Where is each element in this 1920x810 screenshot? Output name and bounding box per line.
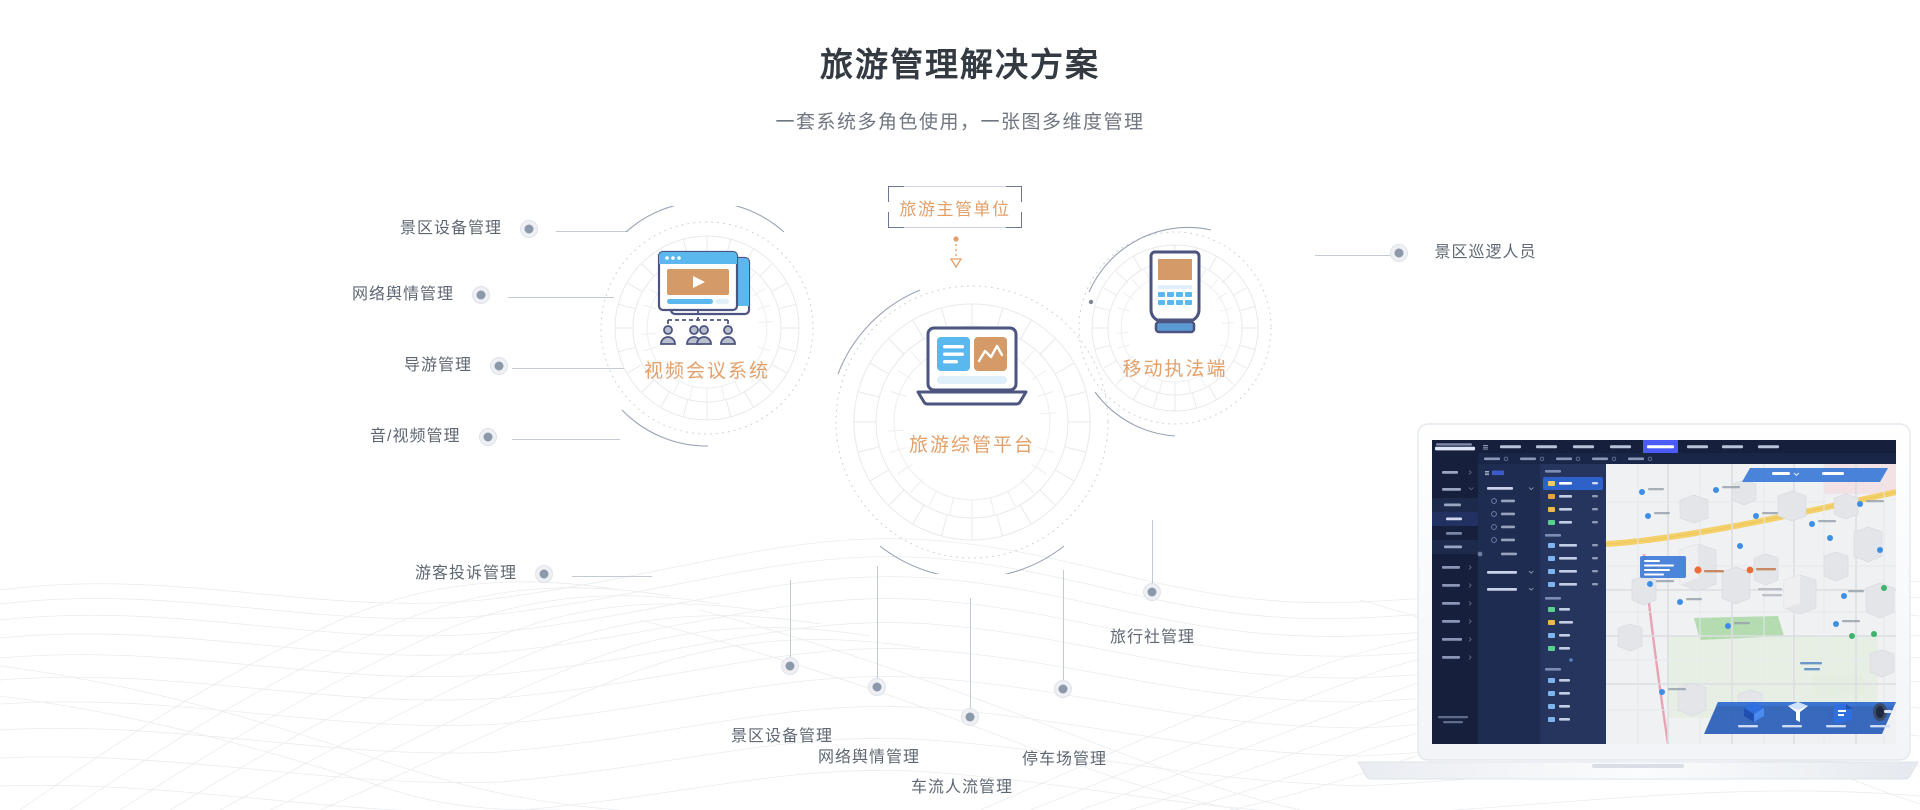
box-corner-tr <box>1006 186 1022 202</box>
leader-line-bottom-3 <box>970 598 971 710</box>
callout-label: 停车场管理 <box>1022 751 1107 768</box>
box-corner-tl <box>888 186 904 202</box>
ring-mobile-accent-arc <box>1063 216 1287 440</box>
callout-label: 导游管理 <box>404 357 472 374</box>
supervisor-label: 旅游主管单位 <box>900 195 1011 220</box>
callout-left-2[interactable]: 网络舆情管理 <box>352 280 490 304</box>
connector-dot <box>781 657 799 675</box>
callout-bottom-4[interactable] <box>1054 680 1072 698</box>
connector-dot <box>1143 583 1161 601</box>
leader-line-right-1 <box>1315 255 1401 256</box>
ring-video-accent-arc <box>586 206 830 450</box>
callout-label: 车流人流管理 <box>911 779 1013 796</box>
dashboard-graphic <box>1432 440 1896 744</box>
connector-dot <box>479 428 497 446</box>
callout-bottom-2[interactable] <box>868 678 886 696</box>
box-edge-top <box>904 186 1006 187</box>
callout-bottom-5-label: 旅行社管理 <box>1110 623 1195 647</box>
callout-bottom-3[interactable] <box>961 708 979 726</box>
callout-left-3[interactable]: 导游管理 <box>404 351 508 375</box>
connector-dot <box>490 357 508 375</box>
callout-label: 音/视频管理 <box>370 428 460 445</box>
connector-dot <box>472 286 490 304</box>
box-edge-bottom <box>904 227 1006 228</box>
leader-line-bottom-4 <box>1063 570 1064 682</box>
callout-right-1[interactable]: 景区巡逻人员 <box>1390 238 1536 262</box>
callout-bottom-4-label: 停车场管理 <box>1022 745 1107 769</box>
box-corner-bl <box>888 212 904 228</box>
callout-left-4[interactable]: 音/视频管理 <box>370 422 497 446</box>
callout-bottom-2-label: 网络舆情管理 <box>818 743 920 767</box>
leader-line-bottom-1 <box>790 580 791 660</box>
supervisor-down-arrow <box>948 236 964 272</box>
connector-dot <box>868 678 886 696</box>
callout-left-1[interactable]: 景区设备管理 <box>400 214 538 238</box>
callout-label: 旅行社管理 <box>1110 629 1195 646</box>
callout-bottom-1[interactable] <box>781 657 799 675</box>
laptop-device-mockup <box>1356 418 1920 790</box>
leader-line-bottom-5 <box>1152 520 1153 585</box>
page-subtitle: 一套系统多角色使用，一张图多维度管理 <box>0 107 1920 134</box>
callout-label: 景区设备管理 <box>400 220 502 237</box>
callout-label: 网络舆情管理 <box>818 749 920 766</box>
solution-diagram-page: 旅游管理解决方案 一套系统多角色使用，一张图多维度管理 景区设备管理 网络舆情管… <box>0 0 1920 810</box>
connector-dot <box>535 565 553 583</box>
page-title: 旅游管理解决方案 <box>0 38 1920 86</box>
leader-line-bottom-2 <box>877 566 878 680</box>
connector-dot <box>961 708 979 726</box>
connector-dot <box>1054 680 1072 698</box>
supervisor-unit-box[interactable]: 旅游主管单位 <box>888 186 1022 228</box>
callout-label: 网络舆情管理 <box>352 286 454 303</box>
callout-label: 游客投诉管理 <box>415 565 517 582</box>
callout-bottom-5[interactable] <box>1143 583 1161 601</box>
callout-bottom-3-label: 车流人流管理 <box>911 773 1013 797</box>
dashboard-screen[interactable] <box>1432 440 1896 744</box>
page-header: 旅游管理解决方案 一套系统多角色使用，一张图多维度管理 <box>0 0 1920 134</box>
connector-dot <box>520 220 538 238</box>
callout-left-5[interactable]: 游客投诉管理 <box>415 559 553 583</box>
connector-dot <box>1390 244 1408 262</box>
leader-line-left-5 <box>572 576 652 577</box>
callout-label: 景区巡逻人员 <box>1434 244 1536 261</box>
box-corner-br <box>1006 212 1022 228</box>
ring-link-node <box>1086 297 1096 307</box>
